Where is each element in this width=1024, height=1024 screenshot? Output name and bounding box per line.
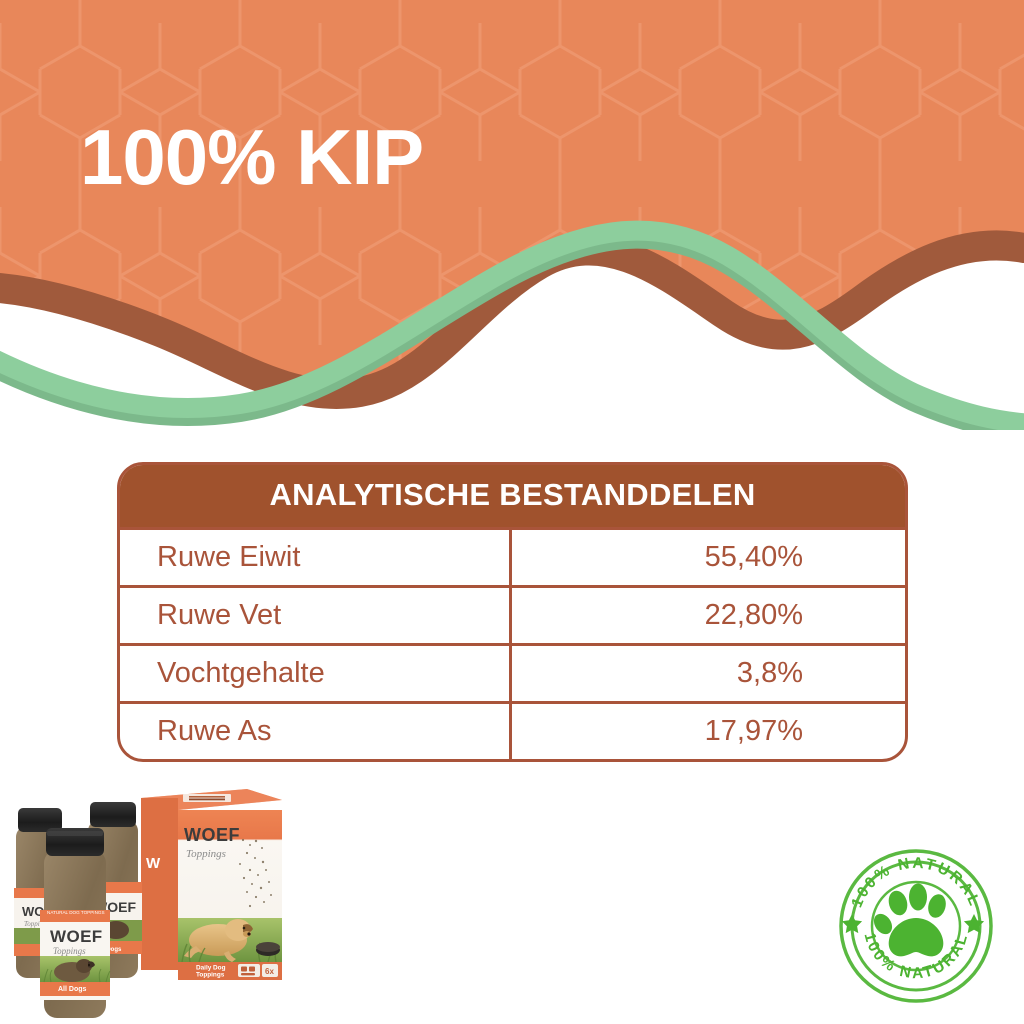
table-row: Ruwe Vet 22,80%	[120, 585, 905, 643]
bottle-dog-photo	[40, 956, 110, 982]
table-cell-value: 3,8%	[512, 646, 905, 701]
table-cell-label: Vochtgehalte	[120, 646, 512, 701]
bottle-subbrand-label: Toppings	[53, 946, 86, 956]
table-cell-value: 55,40%	[512, 530, 905, 585]
table-cell-value: 22,80%	[512, 588, 905, 643]
table-cell-label: Ruwe Eiwit	[120, 530, 512, 585]
bottle-brand-label: WOEF	[50, 927, 103, 946]
box-side-brand: W	[146, 855, 161, 872]
table-row: Vochtgehalte 3,8%	[120, 643, 905, 701]
count-badge: 6x	[265, 967, 274, 976]
hero-banner: 100% KIP	[0, 0, 1024, 430]
table-cell-label: Ruwe As	[120, 704, 512, 759]
box-dog-photo	[178, 918, 282, 962]
page-title: 100% KIP	[80, 118, 423, 196]
table-cell-label: Ruwe Vet	[120, 588, 512, 643]
box-footer-line1: Daily Dog	[196, 965, 226, 972]
product-photo: W WOEF Toppings	[0, 778, 300, 1024]
product-box: W WOEF Toppings	[141, 789, 282, 980]
hero-wave-graphic	[0, 0, 1024, 430]
bottle-footer-label: All Dogs	[58, 986, 86, 993]
box-brand-label: WOEF	[184, 825, 240, 845]
table-row: Ruwe As 17,97%	[120, 701, 905, 759]
box-subbrand-label: Toppings	[186, 848, 226, 860]
natural-stamp: 100% NATURAL 100% NATURAL	[838, 848, 994, 1004]
table-cell-value: 17,97%	[512, 704, 905, 759]
shaker-bottle-front: NATURAL DOG TOPPINGS WOEF Toppings All D…	[40, 828, 110, 1018]
table-row: Ruwe Eiwit 55,40%	[120, 527, 905, 585]
table-header: ANALYTISCHE BESTANDDELEN	[120, 465, 905, 527]
bottle-top-tagline: NATURAL DOG TOPPINGS	[47, 910, 105, 915]
analytical-constituents-table: ANALYTISCHE BESTANDDELEN Ruwe Eiwit 55,4…	[117, 462, 908, 762]
box-footer-line2: Toppings	[196, 972, 225, 979]
